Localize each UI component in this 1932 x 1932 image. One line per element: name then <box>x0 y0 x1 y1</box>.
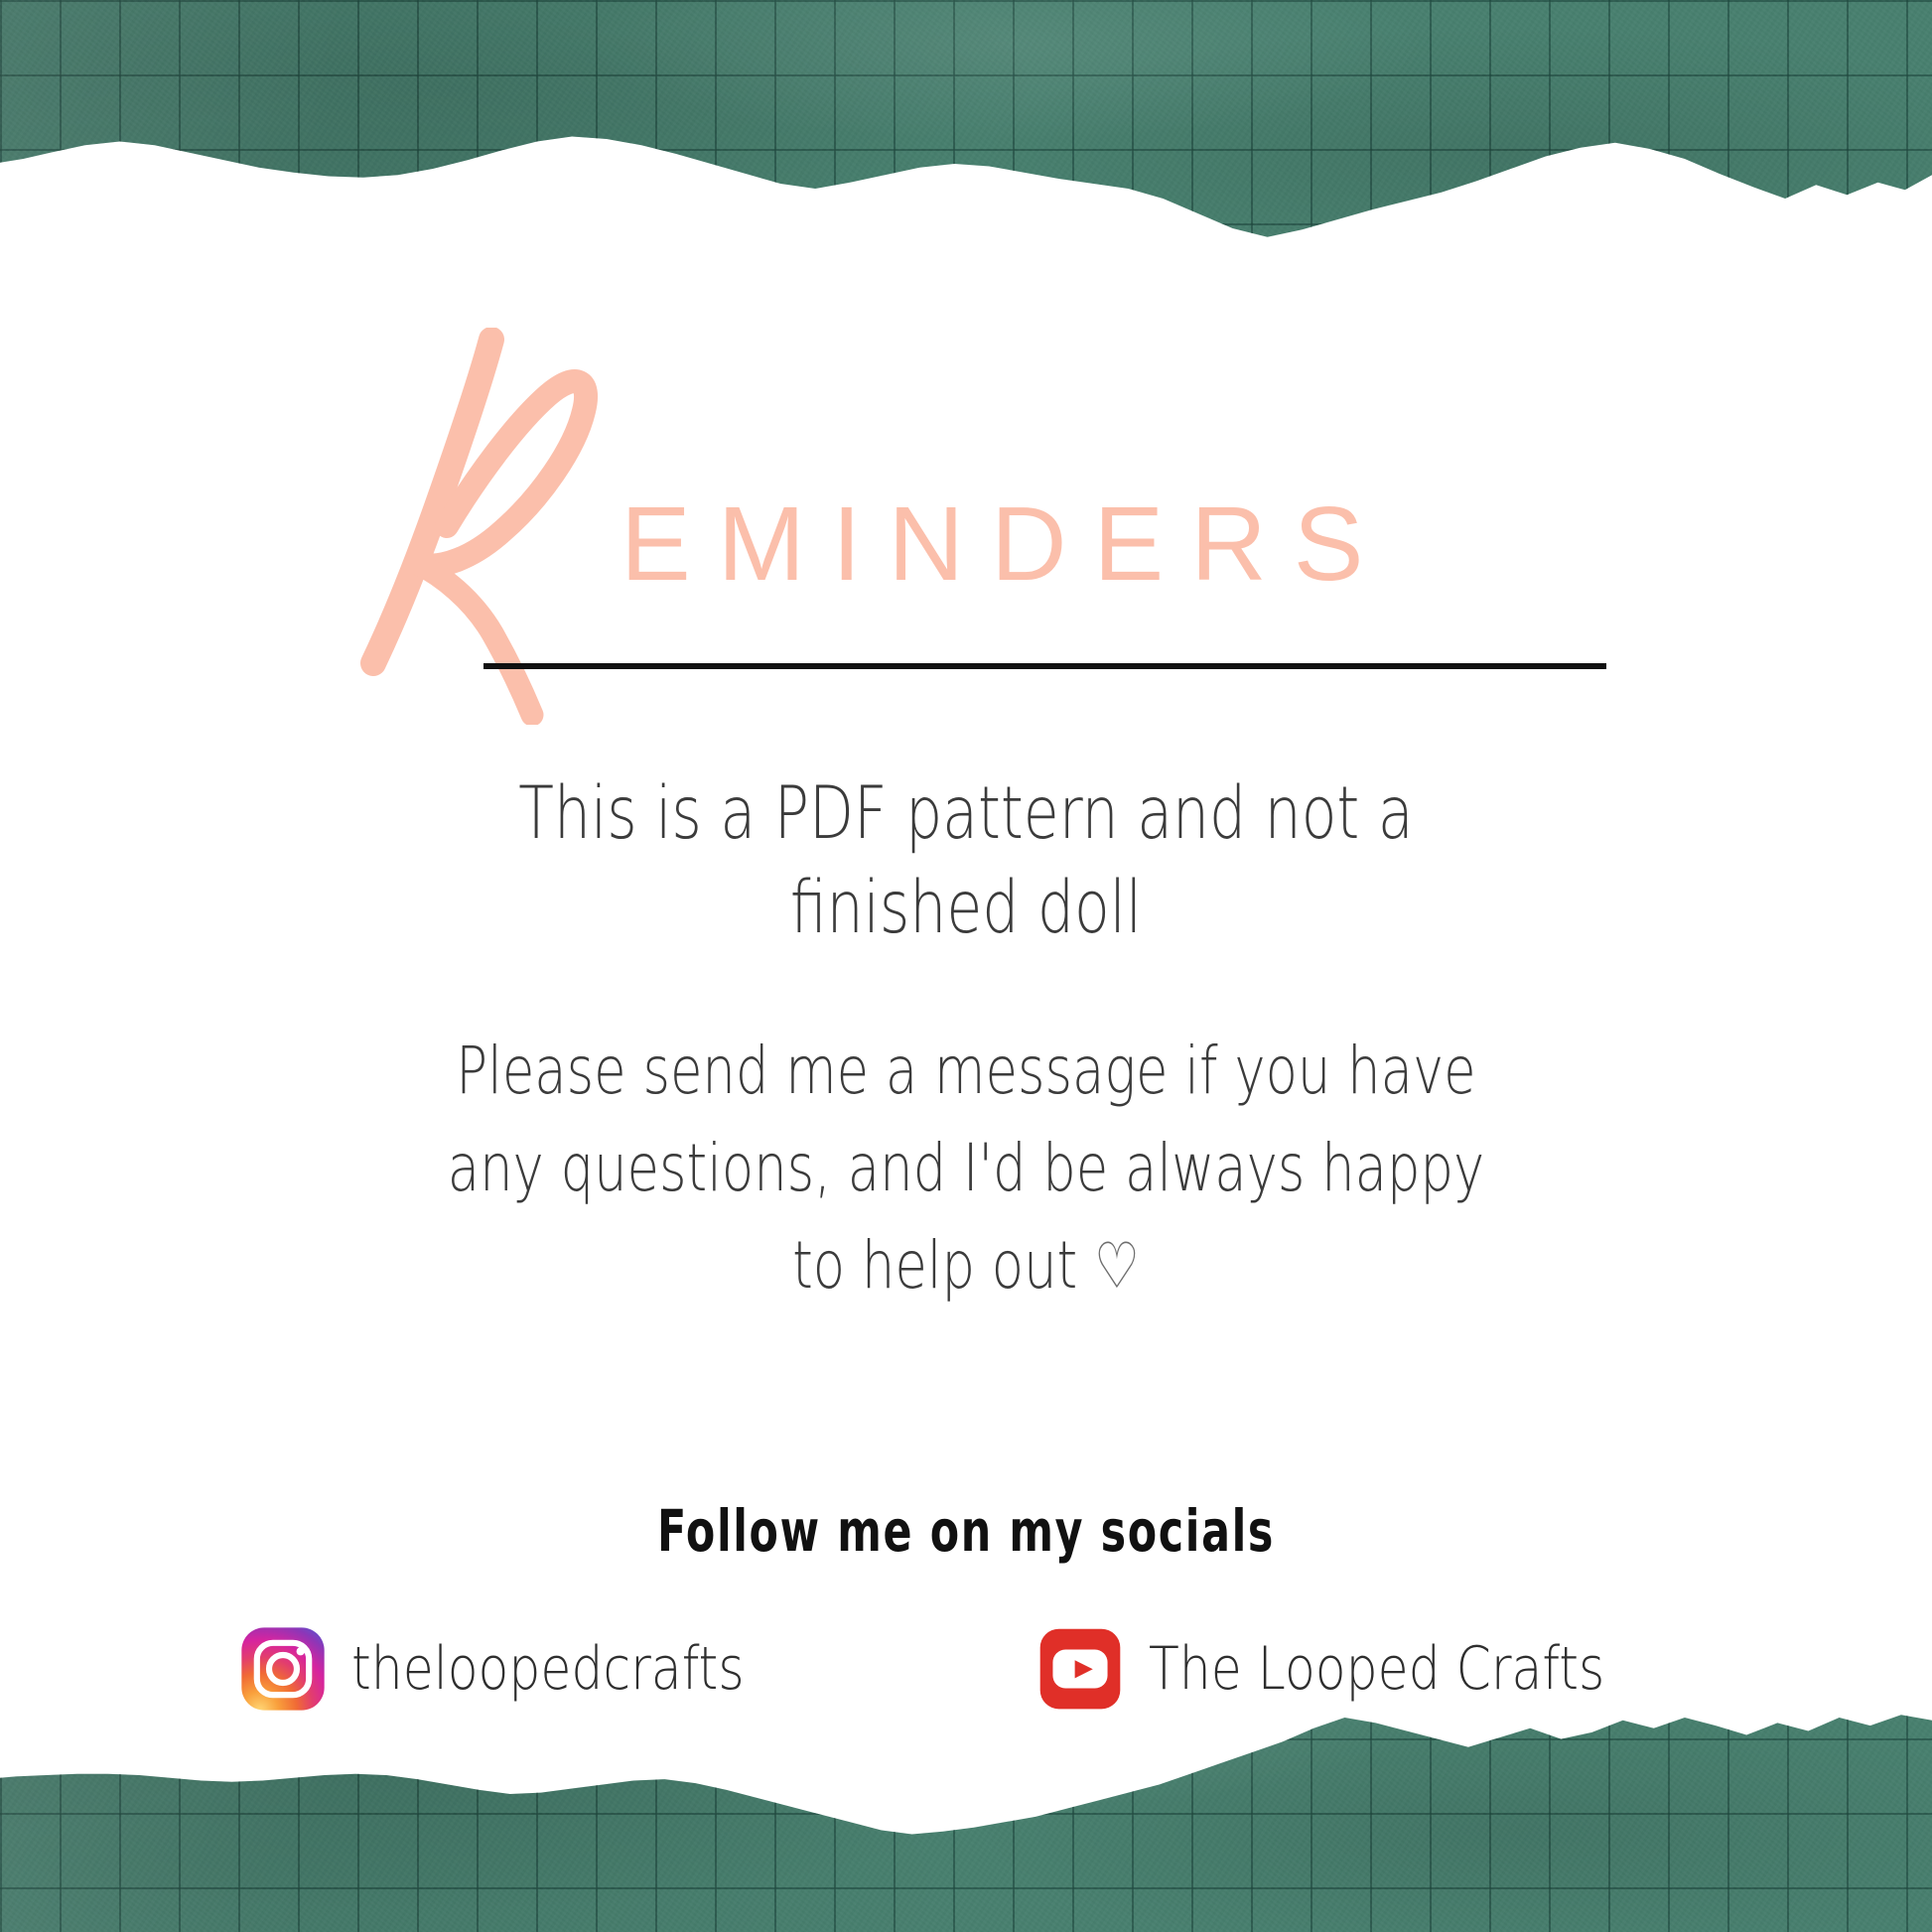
heart-icon: ♡ <box>1094 1230 1140 1304</box>
contact-line-2: any questions, and I'd be always happy <box>194 1120 1739 1217</box>
top-paper-band <box>0 0 1932 248</box>
instagram-icon[interactable] <box>240 1626 326 1712</box>
disclaimer-paragraph: This is a PDF pattern and not a finished… <box>194 766 1739 955</box>
social-account-youtube[interactable]: The Looped Crafts <box>1037 1626 1692 1712</box>
social-account-instagram[interactable]: theloopedcrafts <box>240 1626 819 1712</box>
reminders-graphic: EMINDERS This is a PDF pattern and not a… <box>0 0 1932 1932</box>
socials-row: theloopedcrafts The Looped Crafts <box>0 1626 1932 1712</box>
header-title-word: EMINDERS <box>621 491 1391 597</box>
disclaimer-line-1: This is a PDF pattern and not a <box>194 766 1739 861</box>
top-paper-texture <box>0 0 1932 248</box>
disclaimer-line-2: finished doll <box>194 861 1739 955</box>
youtube-icon[interactable] <box>1037 1626 1123 1712</box>
contact-line-3: to help out ♡ <box>194 1217 1739 1315</box>
youtube-channel-name[interactable]: The Looped Crafts <box>1149 1634 1604 1704</box>
instagram-handle[interactable]: theloopedcrafts <box>351 1634 745 1704</box>
header-divider-rule <box>483 663 1606 669</box>
contact-paragraph: Please send me a message if you have any… <box>194 1023 1739 1315</box>
contact-line-1: Please send me a message if you have <box>194 1023 1739 1120</box>
contact-line-3-text: to help out <box>792 1227 1077 1304</box>
socials-heading: Follow me on my socials <box>174 1497 1758 1565</box>
